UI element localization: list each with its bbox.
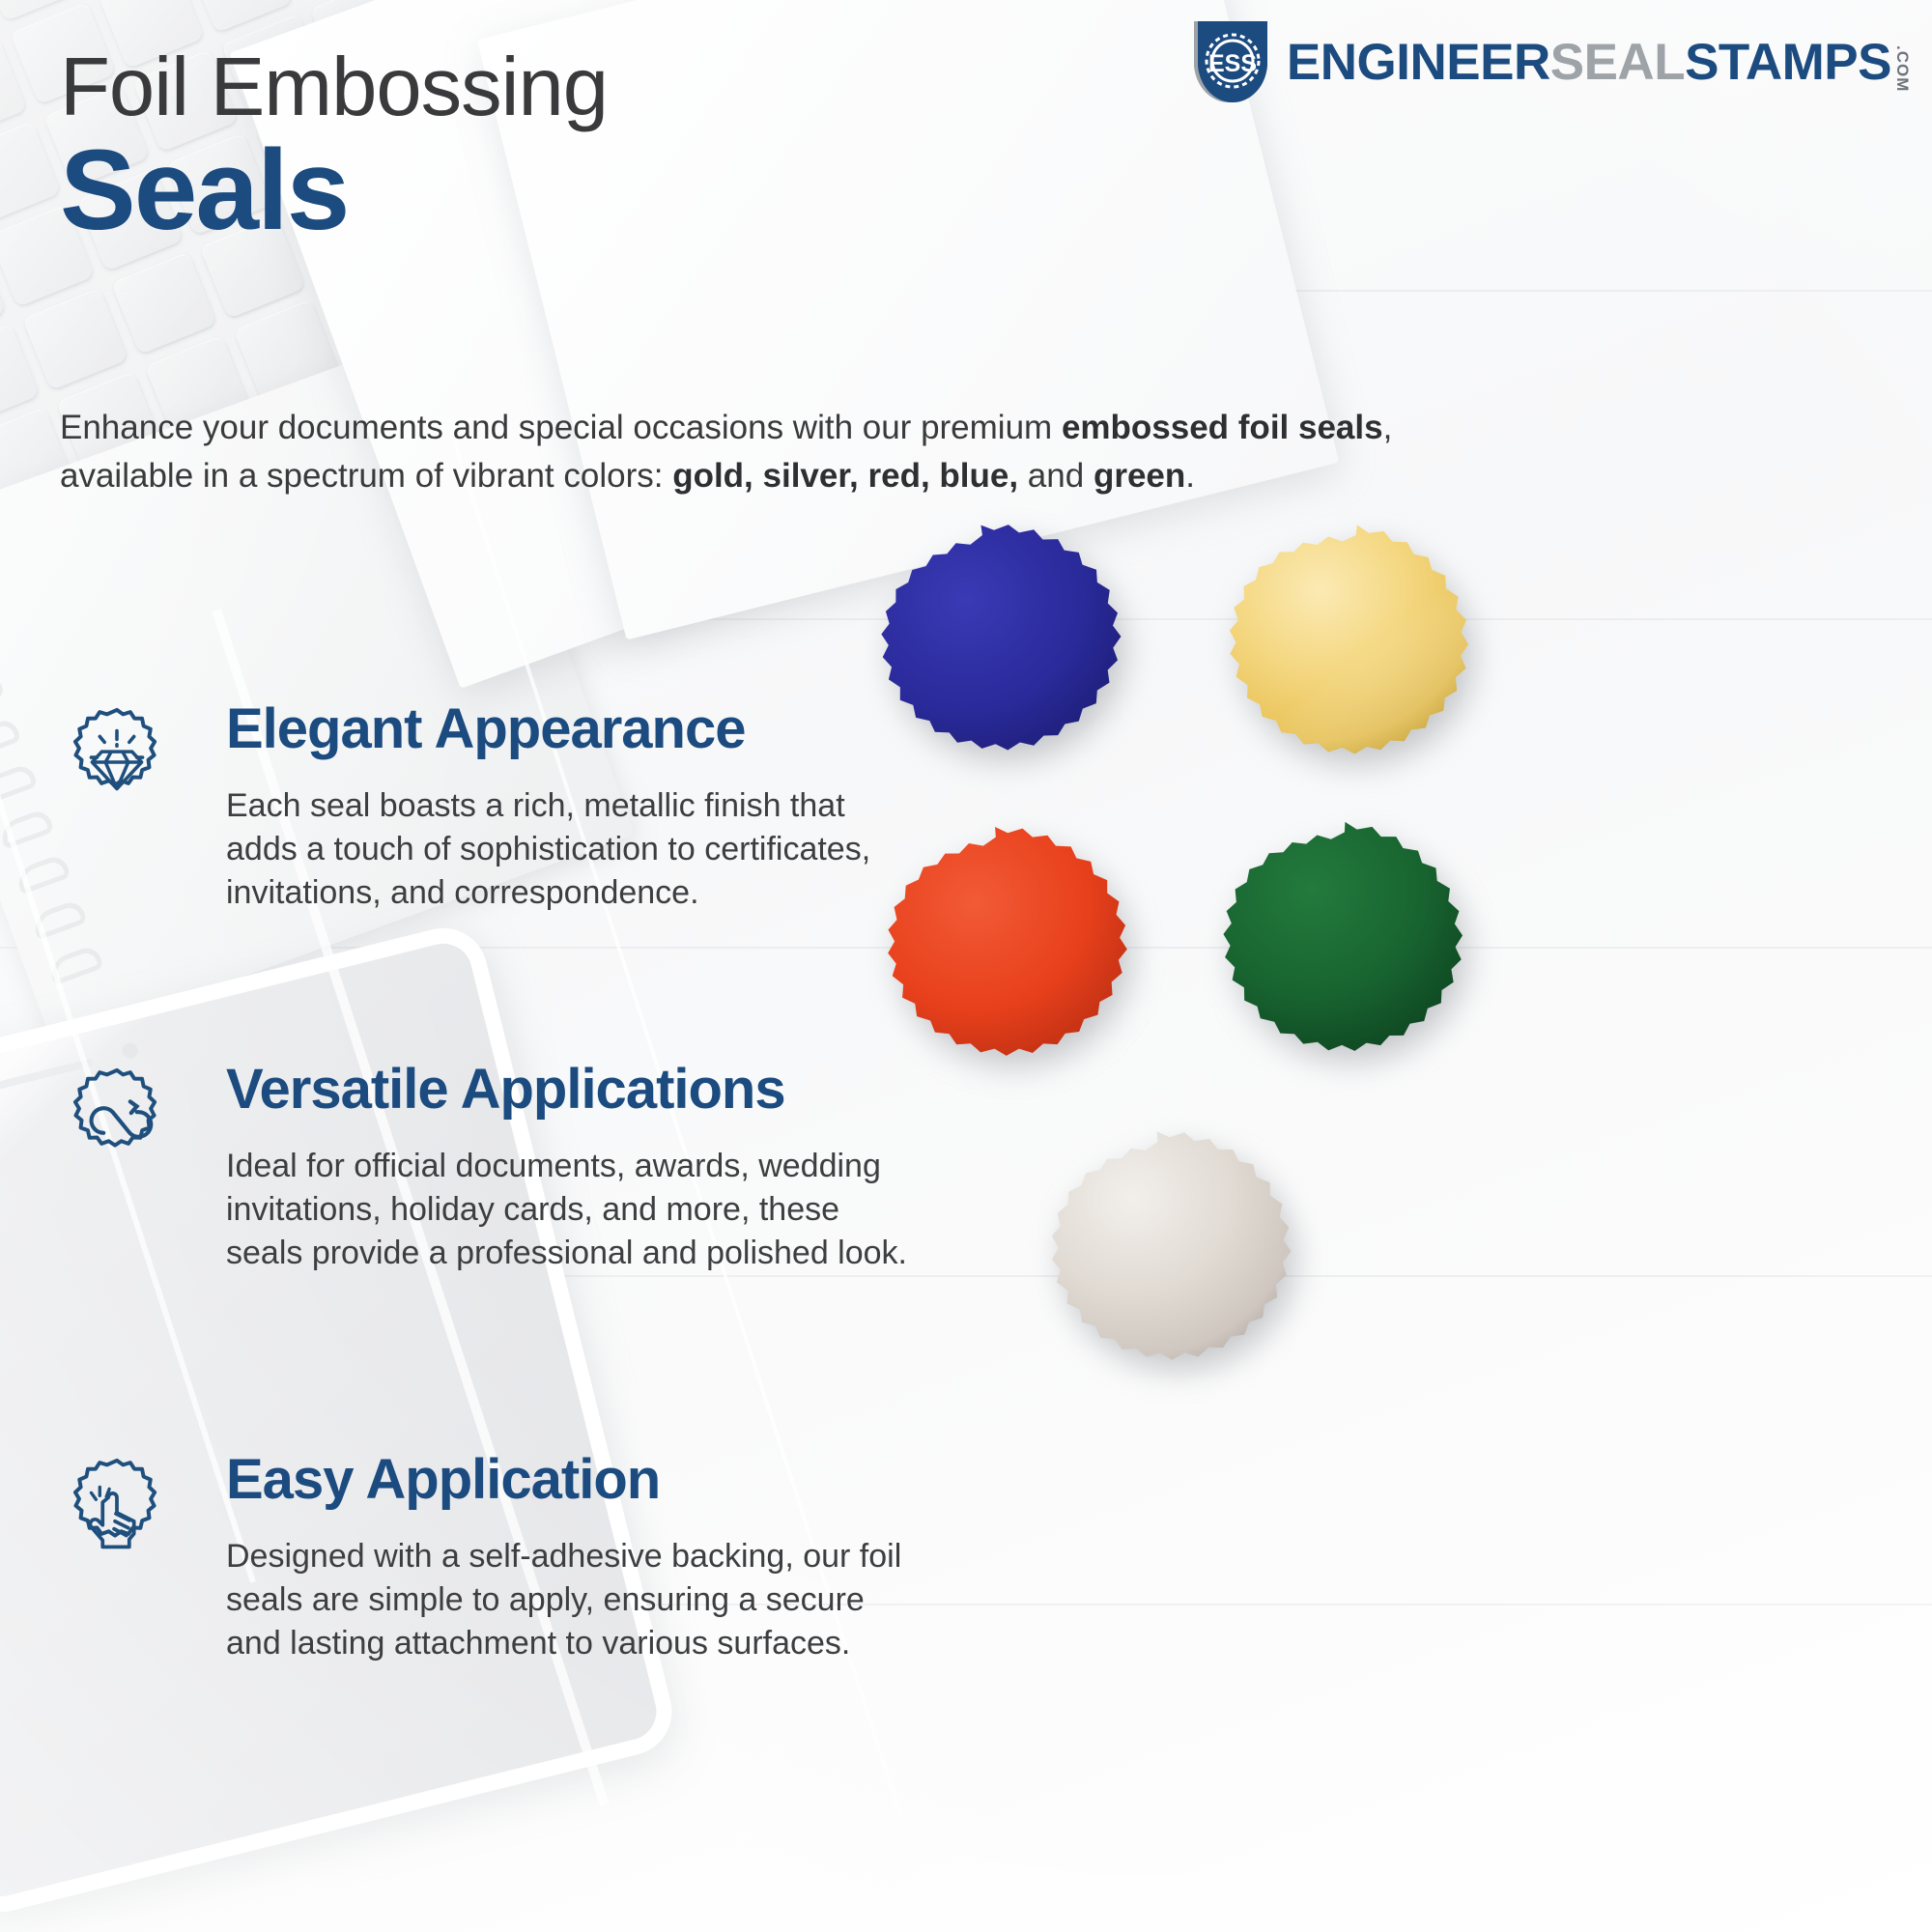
- seal-gold: [1174, 512, 1512, 816]
- seal-silver: [1000, 1121, 1338, 1425]
- feature-body: Designed with a self-adhesive backing, o…: [226, 1535, 922, 1665]
- seal-red: [836, 816, 1174, 1121]
- intro-bold-2: gold, silver, red, blue,: [672, 457, 1018, 495]
- ess-shield-icon: ESS: [1192, 17, 1273, 106]
- intro-paragraph: Enhance your documents and special occas…: [60, 404, 1432, 499]
- infographic-canvas: ESS ENGINEER SEAL STAMPS .COM Foil Embos…: [0, 0, 1932, 1932]
- feature-heading: Easy Application: [226, 1451, 929, 1510]
- tap-hand-badge-icon: [60, 1455, 174, 1569]
- feature-easy-application: Easy Application Designed with a self-ad…: [60, 1451, 929, 1665]
- feature-versatile-applications: Versatile Applications Ideal for officia…: [60, 1061, 929, 1275]
- feature-body: Each seal boasts a rich, metallic finish…: [226, 784, 922, 915]
- feature-heading: Elegant Appearance: [226, 700, 929, 759]
- wordmark-tld: .COM: [1894, 45, 1911, 92]
- intro-bold-1: embossed foil seals: [1062, 409, 1383, 446]
- wordmark-stamps: STAMPS: [1685, 37, 1891, 88]
- page-title-line1: Foil Embossing: [60, 46, 608, 128]
- seal-green: [1169, 811, 1507, 1116]
- intro-text-1: Enhance your documents and special occas…: [60, 409, 1062, 446]
- wordmark-seal: SEAL: [1550, 37, 1685, 88]
- wordmark-engineer: ENGINEER: [1287, 37, 1550, 88]
- intro-bold-3: green: [1094, 457, 1185, 495]
- intro-text-4: .: [1185, 457, 1195, 495]
- intro-text-3: and: [1018, 457, 1094, 495]
- feature-elegant-appearance: Elegant Appearance Each seal boasts a ri…: [60, 700, 929, 915]
- ess-badge-text: ESS: [1208, 50, 1257, 77]
- page-title-line2: Seals: [60, 133, 348, 247]
- infinity-badge-icon: [60, 1065, 174, 1179]
- feature-body: Ideal for official documents, awards, we…: [226, 1145, 922, 1275]
- feature-heading: Versatile Applications: [226, 1061, 929, 1120]
- brand-logo[interactable]: ESS ENGINEER SEAL STAMPS .COM: [1192, 17, 1911, 106]
- seal-blue: [831, 512, 1169, 816]
- diamond-badge-icon: [60, 704, 174, 818]
- brand-wordmark: ENGINEER SEAL STAMPS .COM: [1287, 37, 1911, 88]
